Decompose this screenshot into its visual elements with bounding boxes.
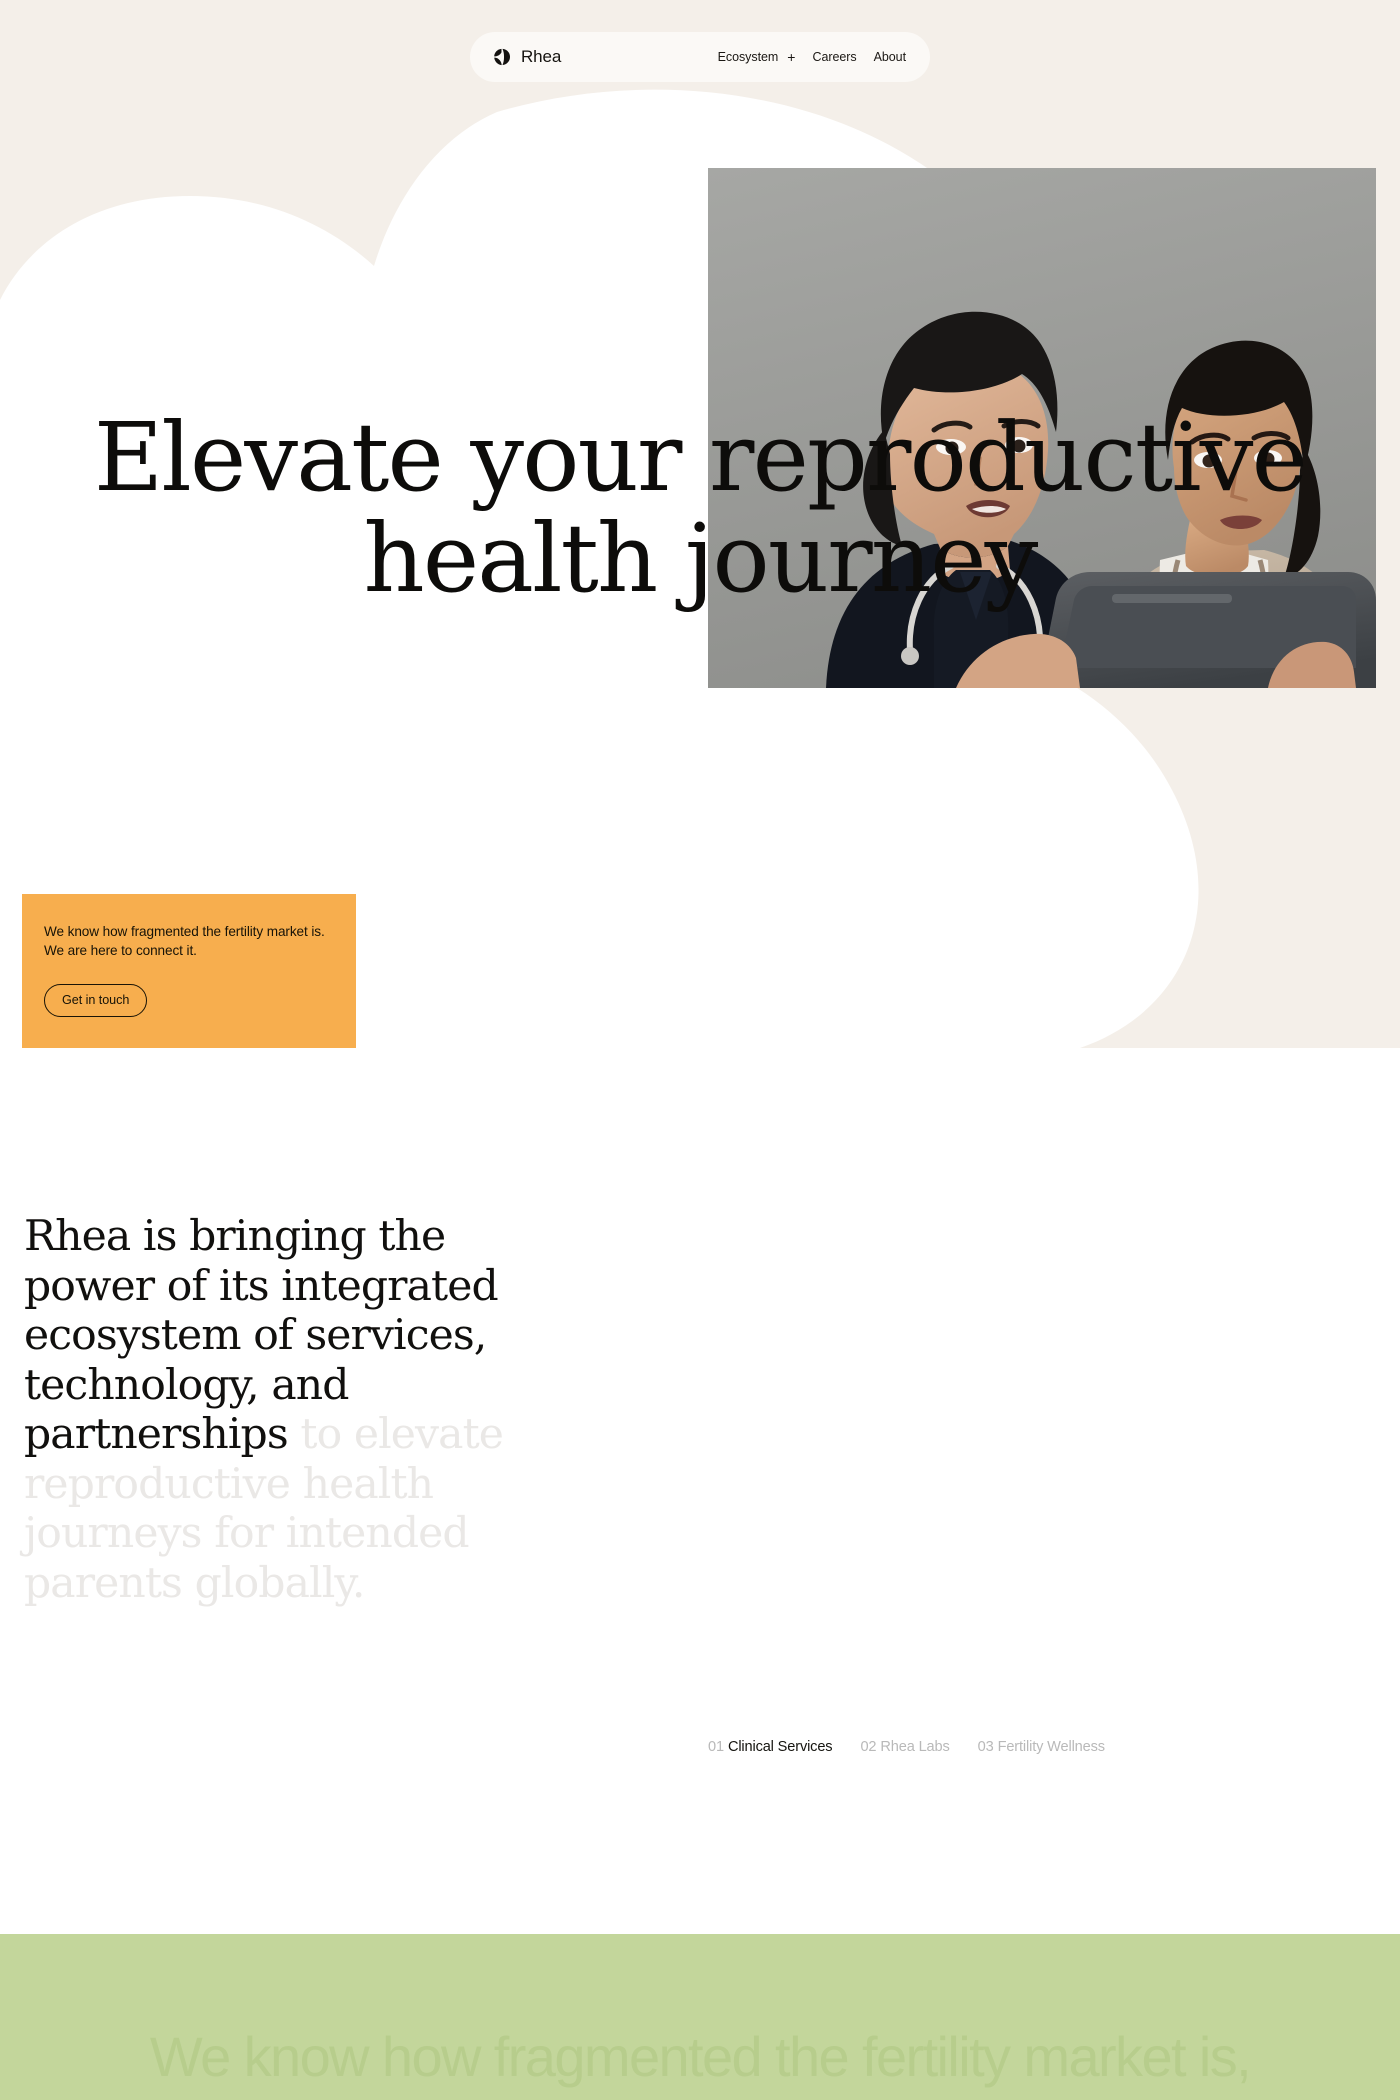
nav-links: Ecosystem + Careers About xyxy=(718,50,906,64)
rhea-petal-logo-icon xyxy=(492,47,512,67)
landing-page: Rhea Ecosystem + Careers About Elevate y… xyxy=(0,0,1400,2100)
green-band-section: We know how fragmented the fertility mar… xyxy=(0,1934,1400,2100)
get-in-touch-button[interactable]: Get in touch xyxy=(44,984,147,1017)
tab-fertility-wellness[interactable]: 03Fertility Wellness xyxy=(978,1739,1105,1755)
tab-label: Clinical Services xyxy=(728,1739,833,1755)
nav-link-about[interactable]: About xyxy=(874,50,906,64)
promo-text: We know how fragmented the fertility mar… xyxy=(44,922,326,961)
hero-title: Elevate your reproductive health journey xyxy=(0,408,1400,609)
main-navbar: Rhea Ecosystem + Careers About xyxy=(470,32,930,82)
brand-logo[interactable]: Rhea xyxy=(492,47,561,67)
tab-label: Fertility Wellness xyxy=(998,1739,1105,1755)
hero-title-line-1: Elevate your reproductive xyxy=(94,403,1306,513)
service-tabs: 01Clinical Services 02Rhea Labs 03Fertil… xyxy=(708,1739,1105,1755)
tab-index: 02 xyxy=(860,1739,876,1755)
ecosystem-expand-plus-icon[interactable]: + xyxy=(787,50,795,64)
nav-link-careers[interactable]: Careers xyxy=(812,50,856,64)
hero-title-line-2: health journey xyxy=(363,504,1036,614)
tab-rhea-labs[interactable]: 02Rhea Labs xyxy=(860,1739,949,1755)
tab-index: 03 xyxy=(978,1739,994,1755)
about-section: Rhea is bringing the power of its integr… xyxy=(0,1048,1400,1934)
band-headline: We know how fragmented the fertility mar… xyxy=(0,2026,1400,2089)
tab-label: Rhea Labs xyxy=(880,1739,949,1755)
brand-name: Rhea xyxy=(521,47,561,67)
tab-index: 01 xyxy=(708,1739,724,1755)
about-lead-paragraph: Rhea is bringing the power of its integr… xyxy=(24,1212,564,1608)
hero-section: Rhea Ecosystem + Careers About Elevate y… xyxy=(0,0,1400,1048)
promo-card: We know how fragmented the fertility mar… xyxy=(22,894,356,1048)
tab-clinical-services[interactable]: 01Clinical Services xyxy=(708,1739,832,1755)
nav-link-ecosystem[interactable]: Ecosystem xyxy=(718,50,779,64)
